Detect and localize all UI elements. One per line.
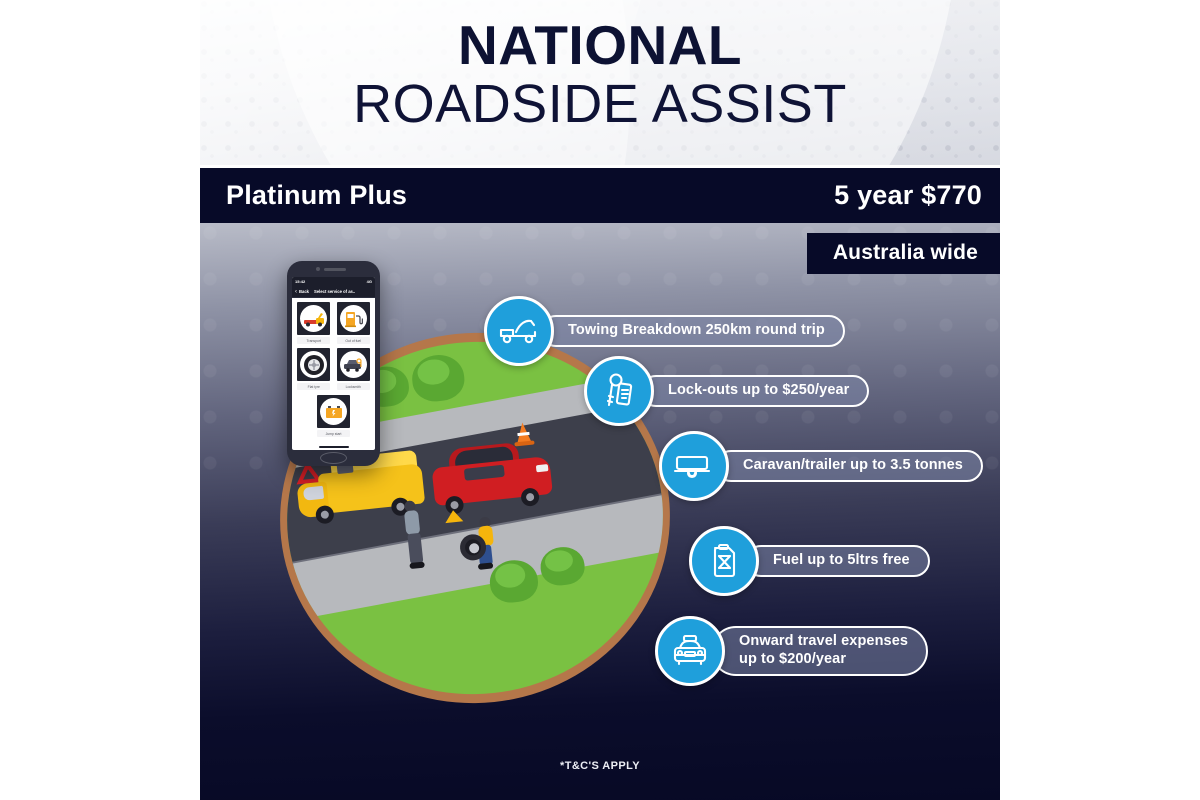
- car-key-tile-icon: [340, 351, 367, 378]
- bush-icon: [410, 352, 467, 403]
- poster-body: Australia wide: [200, 223, 1000, 800]
- app-navigation-bar: ‹ Back Select service of as..: [292, 286, 375, 298]
- app-screen-title: Select service of as..: [314, 289, 355, 294]
- plan-name: Platinum Plus: [226, 180, 407, 211]
- battery-tile-icon: [320, 398, 347, 425]
- feature-label: Lock-outs up to $250/year: [640, 375, 869, 407]
- tile-label: Transport: [297, 337, 330, 344]
- tile-label: Flat tyre: [297, 383, 330, 390]
- tile-image: [337, 302, 370, 335]
- service-tile-transport[interactable]: Transport: [296, 302, 332, 344]
- service-tile-grid: Transport: [292, 298, 375, 441]
- title-line-national: NATIONAL: [200, 16, 1000, 74]
- phone-home-button[interactable]: [320, 452, 347, 464]
- phone-speaker-icon: [324, 268, 346, 271]
- terms-footnote: *T&C'S APPLY: [200, 760, 1000, 772]
- service-tile-locksmith[interactable]: Locksmith: [336, 348, 372, 390]
- tile-label: Out of fuel: [337, 337, 370, 344]
- fuel-pump-tile-icon: [340, 305, 367, 332]
- service-tile-jump-start[interactable]: Jump start: [296, 395, 371, 437]
- feature-label: Caravan/trailer up to 3.5 tonnes: [715, 450, 983, 482]
- tile-image: [297, 348, 330, 381]
- tile-label: Locksmith: [337, 383, 370, 390]
- phone-screen: 15:42 4G ‹ Back Select service of as..: [292, 277, 375, 450]
- car-jack-icon: [444, 509, 463, 523]
- service-tile-out-of-fuel[interactable]: Out of fuel: [336, 302, 372, 344]
- plan-bar: Platinum Plus 5 year $770: [200, 168, 1000, 223]
- tile-image: [297, 302, 330, 335]
- feature-fuel: Fuel up to 5ltrs free: [689, 526, 930, 596]
- tile-image: [317, 395, 350, 428]
- phone-status-bar: 15:42 4G: [292, 277, 375, 286]
- fuel-can-icon: [689, 526, 759, 596]
- tow-truck-icon: [484, 296, 554, 366]
- feature-onward-travel: Onward travel expenses up to $200/year: [655, 616, 928, 686]
- feature-label: Onward travel expenses up to $200/year: [711, 626, 928, 675]
- status-badge-australia-wide: Australia wide: [807, 233, 1000, 274]
- phone-camera-icon: [316, 267, 320, 271]
- tile-label: Jump start: [317, 430, 350, 437]
- feature-caravan: Caravan/trailer up to 3.5 tonnes: [659, 431, 983, 501]
- phone-mockup: 15:42 4G ‹ Back Select service of as..: [287, 261, 380, 466]
- chevron-left-icon[interactable]: ‹: [295, 289, 297, 295]
- keys-icon: [584, 356, 654, 426]
- service-tile-flat-tyre[interactable]: Flat tyre: [296, 348, 332, 390]
- feature-lockouts: Lock-outs up to $250/year: [584, 356, 869, 426]
- page-title: NATIONAL ROADSIDE ASSIST: [200, 16, 1000, 135]
- status-signal: 4G: [367, 279, 372, 284]
- tow-truck-tile-icon: [300, 305, 327, 332]
- feature-label: Fuel up to 5ltrs free: [745, 545, 930, 577]
- status-time: 15:42: [295, 279, 305, 284]
- tile-image: [337, 348, 370, 381]
- feature-label: Towing Breakdown 250km round trip: [540, 315, 845, 347]
- taxi-icon: [655, 616, 725, 686]
- back-button[interactable]: Back: [299, 289, 309, 294]
- phone-home-indicator: [319, 446, 349, 448]
- plan-price: 5 year $770: [834, 180, 982, 211]
- title-line-roadside-assist: ROADSIDE ASSIST: [200, 74, 1000, 134]
- poster-header: NATIONAL ROADSIDE ASSIST: [200, 0, 1000, 165]
- poster-canvas: NATIONAL ROADSIDE ASSIST Platinum Plus 5…: [200, 0, 1000, 800]
- trailer-icon: [659, 431, 729, 501]
- tyre-tile-icon: [300, 351, 327, 378]
